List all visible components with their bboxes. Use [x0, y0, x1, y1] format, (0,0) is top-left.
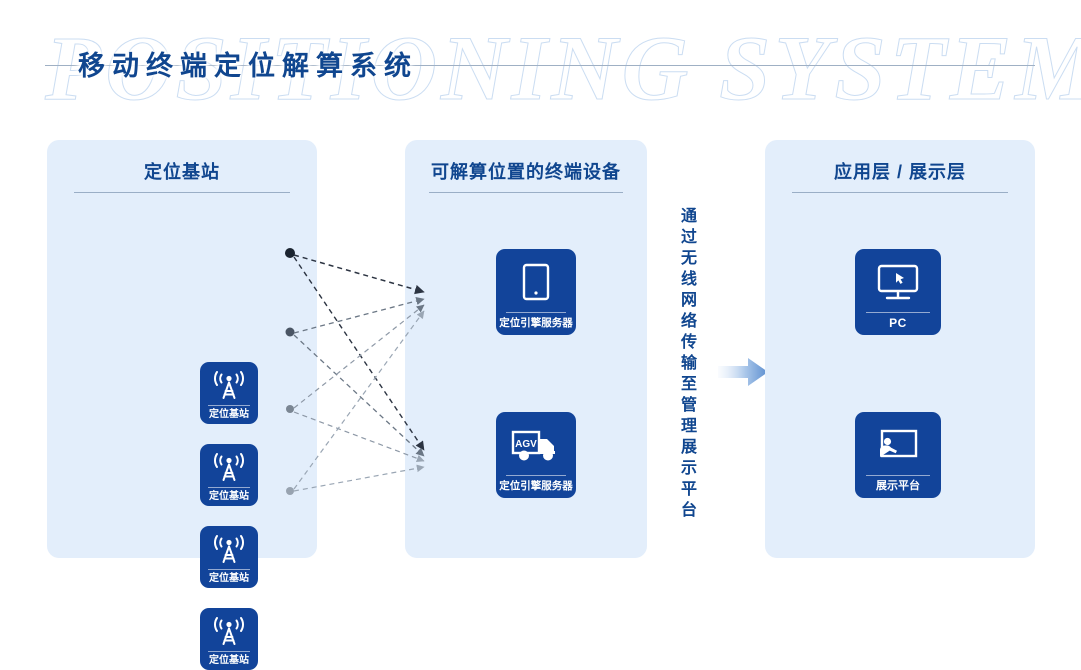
panel-divider	[429, 192, 623, 193]
card-caption-separator	[506, 312, 565, 313]
card-label: 定位引擎服务器	[496, 478, 576, 498]
page-title: 移动终端定位解算系统	[78, 44, 418, 83]
panel-divider	[74, 192, 290, 193]
card-label: 展示平台	[855, 478, 941, 498]
card-base-station-1[interactable]: 定位基站	[200, 362, 258, 424]
antenna-tower-icon	[200, 529, 258, 569]
panel-title-base-stations: 定位基站	[47, 158, 317, 184]
card-caption-separator	[208, 569, 251, 570]
card-base-station-4[interactable]: 定位基站	[200, 608, 258, 670]
panel-positioning-base-stations: 定位基站 定位基站	[47, 140, 317, 558]
panel-divider	[792, 192, 1008, 193]
card-caption-separator	[866, 475, 930, 476]
card-caption-separator	[208, 487, 251, 488]
card-base-station-2[interactable]: 定位基站	[200, 444, 258, 506]
card-positioning-engine-server-agv[interactable]: AGV 定位引擎服务器	[496, 412, 576, 498]
card-caption-separator	[208, 651, 251, 652]
antenna-tower-icon	[200, 365, 258, 405]
card-caption-separator	[866, 312, 930, 313]
card-caption-separator	[506, 475, 565, 476]
card-display-platform[interactable]: 展示平台	[855, 412, 941, 498]
desktop-monitor-icon	[855, 255, 941, 312]
card-positioning-engine-server-tablet[interactable]: 定位引擎服务器	[496, 249, 576, 335]
antenna-tower-icon	[200, 611, 258, 651]
agv-badge-text: AGV	[515, 439, 537, 450]
tablet-device-icon	[496, 255, 576, 312]
panel-title-application-layer: 应用层 / 展示层	[765, 158, 1035, 184]
card-label: 定位基站	[200, 571, 258, 588]
panel-title-terminal-devices: 可解算位置的终端设备	[405, 158, 647, 184]
transmission-vertical-label: 通过无线网络传输至管理展示平台	[676, 206, 702, 521]
card-label: 定位基站	[200, 489, 258, 506]
card-caption-separator	[208, 405, 251, 406]
antenna-tower-icon	[200, 447, 258, 487]
card-label: 定位引擎服务器	[496, 315, 576, 335]
card-label: PC	[855, 315, 941, 335]
page-header: POSITIONING SYSTEM 移动终端定位解算系统	[0, 0, 1081, 132]
card-label: 定位基站	[200, 407, 258, 424]
card-label: 定位基站	[200, 653, 258, 670]
card-base-station-3[interactable]: 定位基站	[200, 526, 258, 588]
card-pc[interactable]: PC	[855, 249, 941, 335]
right-arrow-icon	[718, 352, 770, 392]
presentation-board-icon	[855, 418, 941, 475]
agv-truck-icon: AGV	[496, 418, 576, 475]
